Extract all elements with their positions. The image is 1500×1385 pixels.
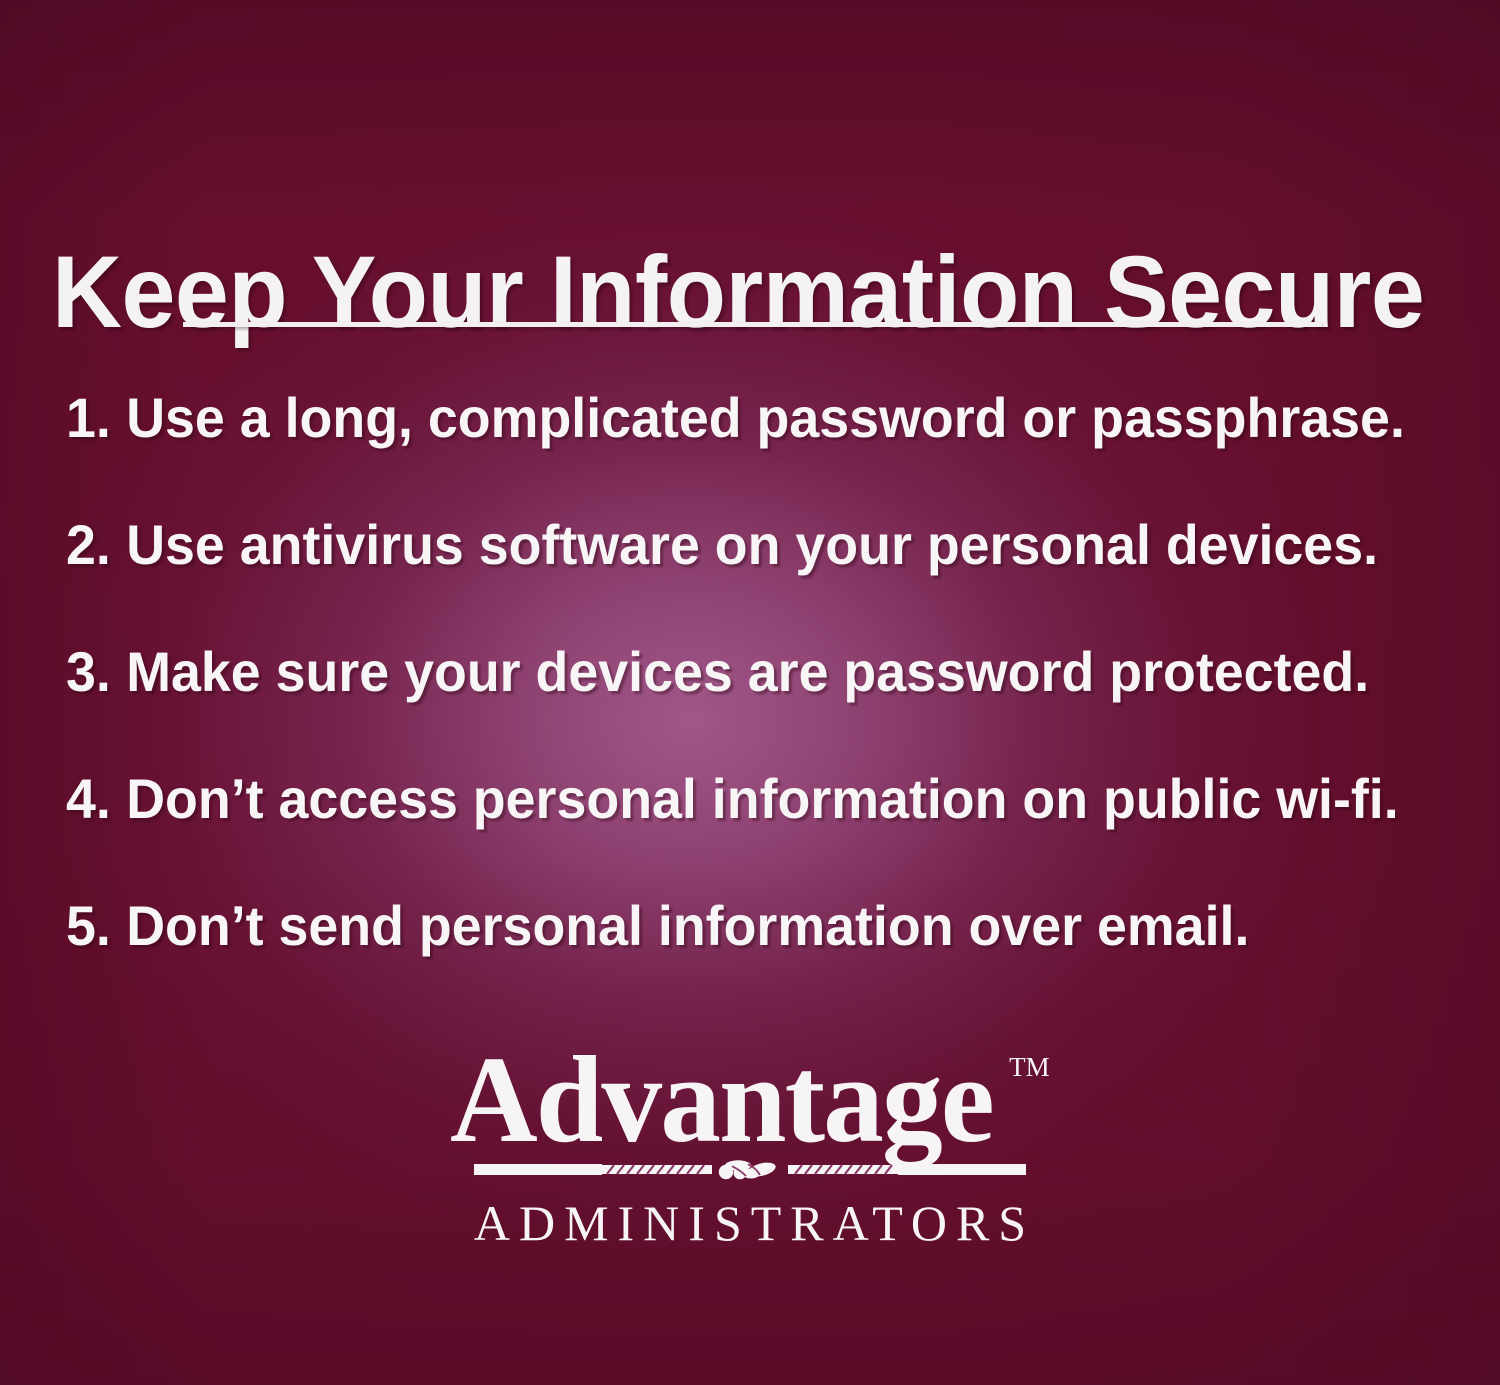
list-item-number: 4.	[66, 771, 111, 827]
page-title: Keep Your Information Secure	[52, 240, 1392, 344]
rope-knot-rule-icon	[474, 1160, 1026, 1180]
title-divider	[183, 322, 1322, 327]
list-item-text: Don’t access personal information on pub…	[126, 771, 1398, 827]
list-item: 4. Don’t access personal information on …	[66, 771, 1410, 898]
list-item-text: Use a long, complicated password or pass…	[126, 390, 1405, 446]
list-item-text: Make sure your devices are password prot…	[126, 644, 1369, 700]
security-tips-poster: Keep Your Information Secure 1. Use a lo…	[0, 0, 1500, 1385]
list-item-number: 1.	[66, 390, 111, 446]
logo-wordmark-text: Advantage	[450, 1038, 993, 1162]
list-item: 1. Use a long, complicated password or p…	[66, 390, 1410, 517]
security-tips-list: 1. Use a long, complicated password or p…	[66, 390, 1466, 1025]
list-item: 2. Use antivirus software on your person…	[66, 517, 1410, 644]
list-item-number: 3.	[66, 644, 111, 700]
list-item-text: Don’t send personal information over ema…	[126, 898, 1249, 954]
list-item-number: 5.	[66, 898, 111, 954]
logo-subtitle: ADMINISTRATORS	[465, 1198, 1035, 1248]
advantage-administrators-logo: Advantage TM	[0, 1038, 1500, 1248]
logo-wordmark-row: Advantage TM	[450, 1038, 1049, 1156]
list-item-text: Use antivirus software on your personal …	[126, 517, 1378, 573]
trademark-symbol: TM	[1009, 1054, 1050, 1081]
list-item: 5. Don’t send personal information over …	[66, 898, 1410, 1025]
list-item: 3. Make sure your devices are password p…	[66, 644, 1410, 771]
list-item-number: 2.	[66, 517, 111, 573]
